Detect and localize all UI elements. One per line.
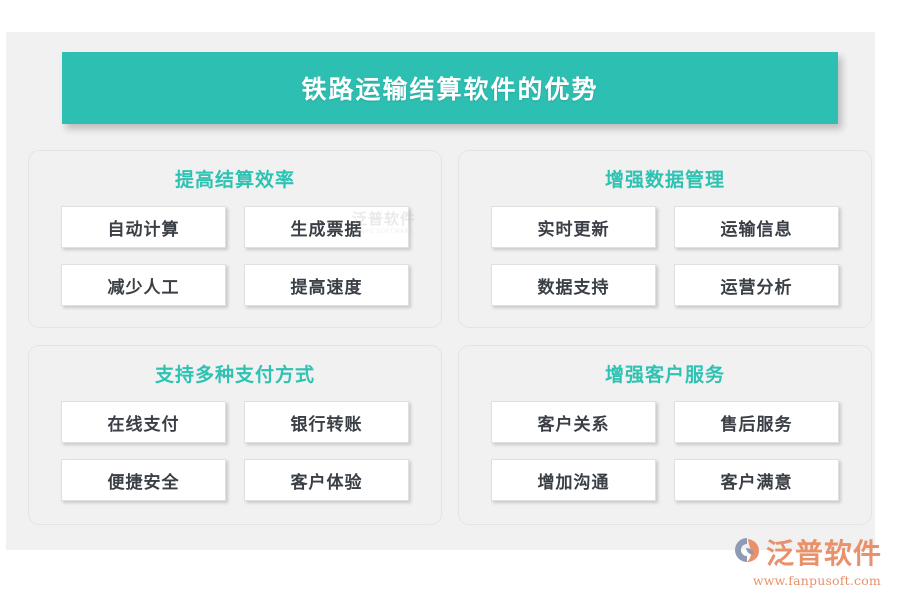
card-1-item-2[interactable]: 生成票据 [244,206,409,248]
card-title-3: 支持多种支付方式 [155,360,315,387]
card-1-item-1[interactable]: 自动计算 [61,206,226,248]
card-title-2: 增强数据管理 [605,165,725,192]
card-2-item-2[interactable]: 运输信息 [674,206,839,248]
card-4-item-2[interactable]: 售后服务 [674,401,839,443]
brand-logo: 泛普软件 www.fanpusoft.com [732,532,882,588]
card-4-item-1[interactable]: 客户关系 [491,401,656,443]
page-title: 铁路运输结算软件的优势 [301,70,598,106]
card-title-4: 增强客户服务 [605,360,725,387]
fanpu-leaf-logo-icon [732,535,762,569]
card-1-item-4[interactable]: 提高速度 [244,264,409,306]
advantages-grid: 提高结算效率 自动计算 生成票据 减少人工 提高速度 增强数据管理 实时更新 运… [28,150,872,525]
card-items-2: 实时更新 运输信息 数据支持 运营分析 [491,206,839,306]
poster-root: 铁路运输结算软件的优势 提高结算效率 自动计算 生成票据 减少人工 提高速度 增… [0,0,900,600]
brand-logo-row: 泛普软件 [732,532,882,572]
card-3-item-1[interactable]: 在线支付 [61,401,226,443]
card-3-item-2[interactable]: 银行转账 [244,401,409,443]
brand-url: www.fanpusoft.com [753,573,881,588]
card-4-item-4[interactable]: 客户满意 [674,459,839,501]
card-1-item-3[interactable]: 减少人工 [61,264,226,306]
card-items-4: 客户关系 售后服务 增加沟通 客户满意 [491,401,839,501]
advantage-card-4: 增强客户服务 客户关系 售后服务 增加沟通 客户满意 [458,345,872,525]
advantage-card-2: 增强数据管理 实时更新 运输信息 数据支持 运营分析 [458,150,872,328]
header-banner: 铁路运输结算软件的优势 [62,52,838,124]
advantage-card-1: 提高结算效率 自动计算 生成票据 减少人工 提高速度 [28,150,442,328]
card-2-item-3[interactable]: 数据支持 [491,264,656,306]
card-items-1: 自动计算 生成票据 减少人工 提高速度 [61,206,409,306]
brand-name: 泛普软件 [766,532,882,572]
card-3-item-3[interactable]: 便捷安全 [61,459,226,501]
card-3-item-4[interactable]: 客户体验 [244,459,409,501]
advantage-card-3: 支持多种支付方式 在线支付 银行转账 便捷安全 客户体验 [28,345,442,525]
card-2-item-1[interactable]: 实时更新 [491,206,656,248]
card-title-1: 提高结算效率 [175,165,295,192]
card-items-3: 在线支付 银行转账 便捷安全 客户体验 [61,401,409,501]
card-4-item-3[interactable]: 增加沟通 [491,459,656,501]
card-2-item-4[interactable]: 运营分析 [674,264,839,306]
